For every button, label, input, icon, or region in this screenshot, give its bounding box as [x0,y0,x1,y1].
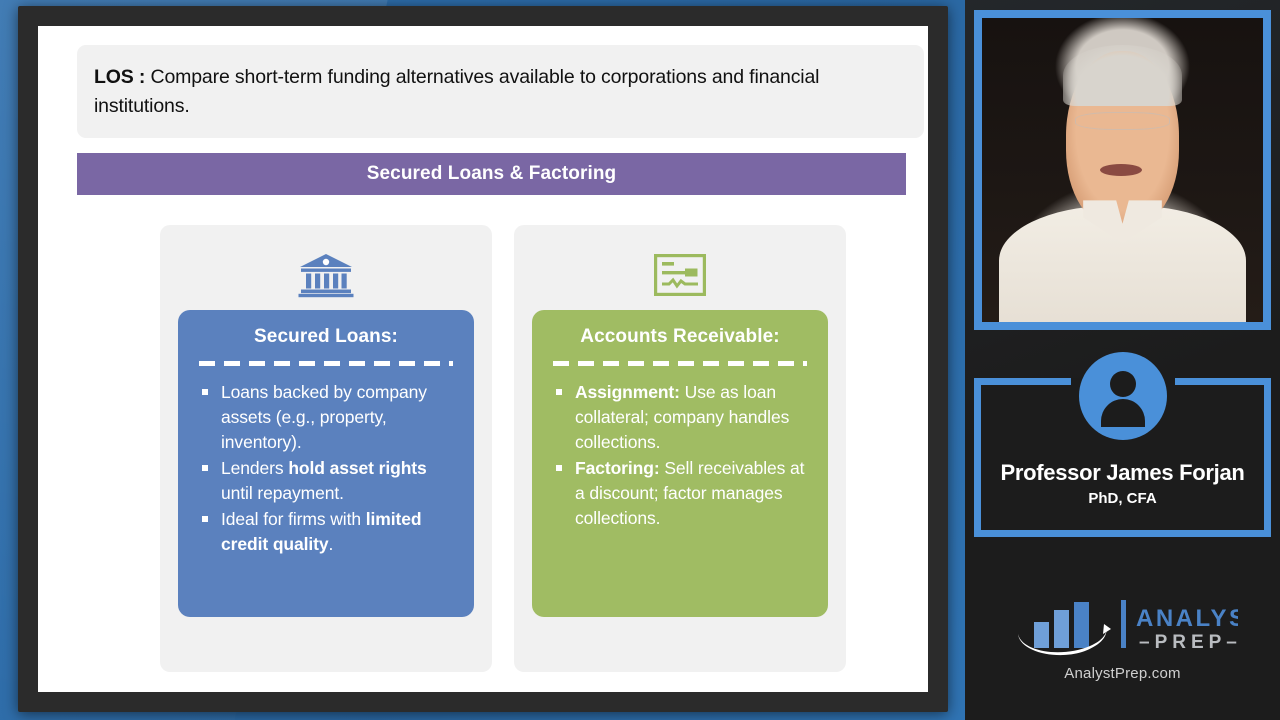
list-item: Factoring: Sell receivables at a discoun… [550,456,810,531]
presenter-name-card: Professor James Forjan PhD, CFA [974,352,1271,537]
bullet-emphasis: hold asset rights [288,458,426,478]
bank-building-icon [298,244,354,306]
secured-loans-bullet-list: Loans backed by company assets (e.g., pr… [196,380,456,557]
learning-outcome-statement-box: LOS : Compare short-term funding alterna… [77,45,924,138]
slide-canvas: LOS : Compare short-term funding alterna… [38,26,928,692]
section-title-banner: Secured Loans & Factoring [77,153,906,195]
brand-url[interactable]: AnalystPrep.com [965,665,1280,682]
svg-text:ANALYST: ANALYST [1136,605,1238,632]
list-item: Assignment: Use as loan collateral; comp… [550,380,810,455]
slide-stage: LOS : Compare short-term funding alterna… [0,0,965,720]
avatar-body-icon [1101,399,1145,427]
accounts-receivable-title: Accounts Receivable: [550,326,810,348]
divider-dashed [553,361,807,366]
svg-text:–PREP–: –PREP– [1139,632,1238,653]
accounts-receivable-panel: Accounts Receivable: Assignment: Use as … [532,310,828,617]
list-item: Lenders hold asset rights until repaymen… [196,456,456,506]
presenter-video-frame[interactable] [974,10,1271,330]
bullet-emphasis: limited credit quality [221,509,421,554]
slide-frame: LOS : Compare short-term funding alterna… [18,6,948,712]
avatar-head-icon [1110,371,1136,397]
presenter-glasses [1075,112,1171,130]
card-accounts-receivable: Accounts Receivable: Assignment: Use as … [514,225,846,672]
learning-outcome-statement-text: LOS : Compare short-term funding alterna… [94,63,907,120]
los-label: LOS : [94,66,145,88]
secured-loans-title: Secured Loans: [196,326,456,348]
presenter-video-feed [982,18,1263,322]
secured-loans-panel: Secured Loans: Loans backed by company a… [178,310,474,617]
los-body: Compare short-term funding alternatives … [94,66,819,116]
divider-dashed [199,361,453,366]
presenter-name: Professor James Forjan [974,460,1271,486]
section-title-text: Secured Loans & Factoring [367,163,617,185]
list-item: Ideal for firms with limited credit qual… [196,507,456,557]
presenter-credentials: PhD, CFA [974,490,1271,507]
presenter-mouth [1100,164,1142,176]
comparison-cards-row: Secured Loans: Loans backed by company a… [160,225,846,672]
brand-block: ANALYST –PREP– AnalystPrep.com [965,595,1280,682]
card-secured-loans: Secured Loans: Loans backed by company a… [160,225,492,672]
bullet-lead: Assignment: [575,382,680,402]
bullet-text: Loans backed by company assets (e.g., pr… [221,382,427,452]
avatar [1079,352,1167,440]
presenter-sidebar: Professor James Forjan PhD, CFA ANALYST … [965,0,1280,720]
accounts-receivable-bullet-list: Assignment: Use as loan collateral; comp… [550,380,810,531]
cheque-icon [654,244,706,306]
presenter-hair [1063,45,1181,106]
list-item: Loans backed by company assets (e.g., pr… [196,380,456,455]
analystprep-logo[interactable]: ANALYST –PREP– [965,595,1280,659]
bullet-lead: Factoring: [575,458,660,478]
